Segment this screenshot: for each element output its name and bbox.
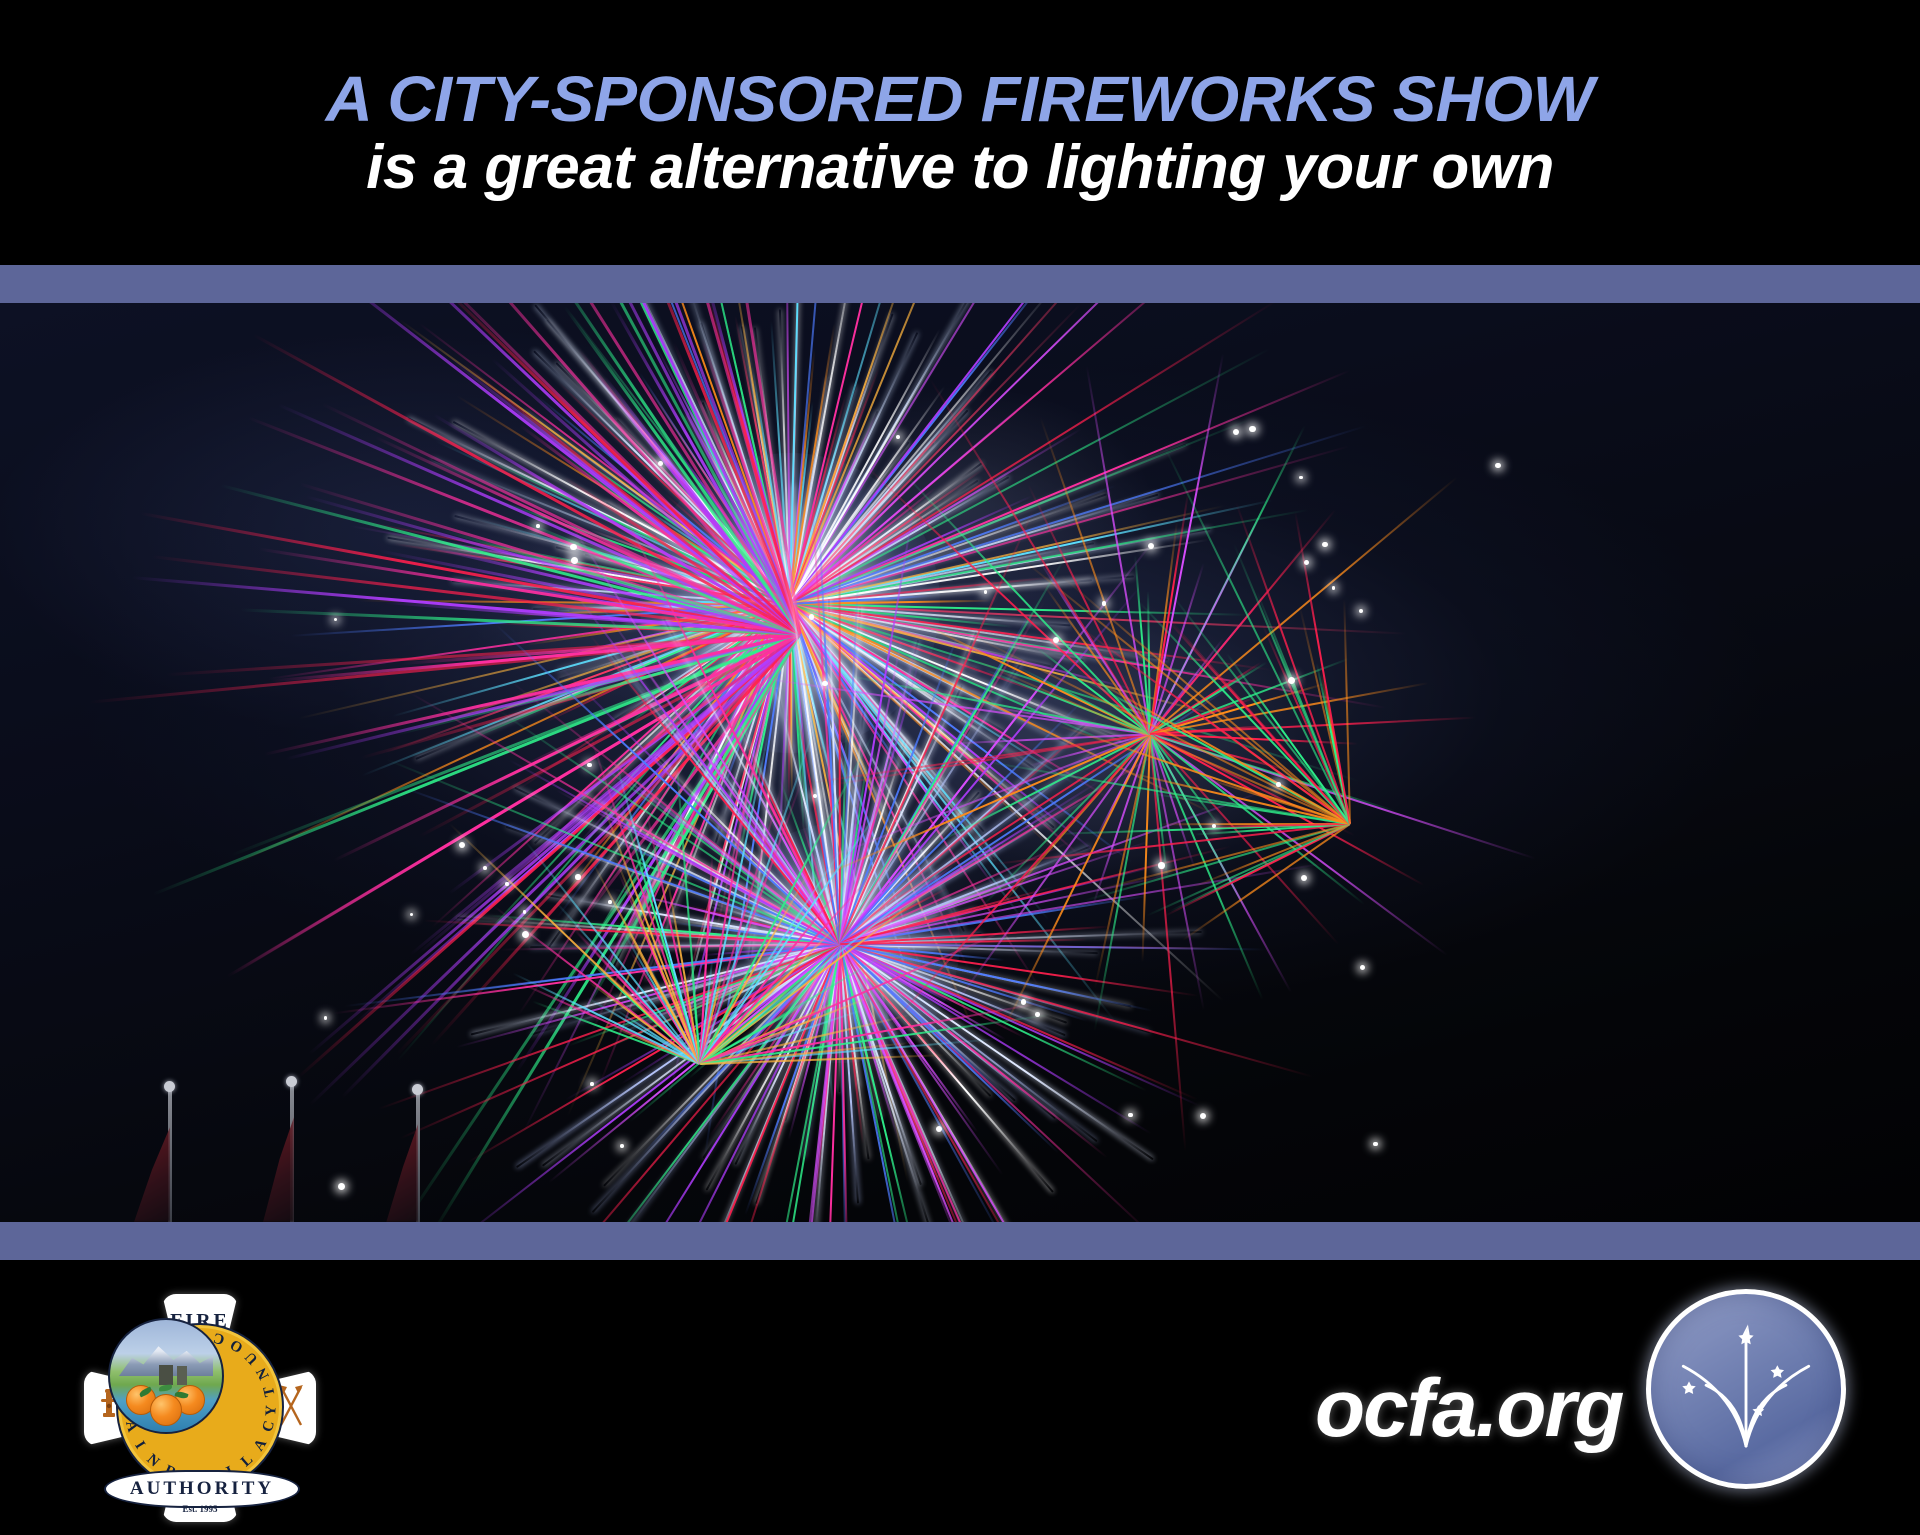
firework-spark	[1148, 543, 1154, 549]
firework-spark	[984, 590, 987, 593]
accent-bar-top	[0, 265, 1920, 303]
firework-spark	[587, 763, 592, 768]
firework-spark	[809, 614, 814, 619]
firework-spark	[334, 618, 337, 621]
firework-spark	[1332, 586, 1335, 589]
firework-spark	[459, 842, 465, 848]
firework-spark	[658, 461, 663, 466]
firework-spark	[575, 874, 580, 879]
seal-center-scene	[108, 1318, 224, 1434]
firework-spark	[1200, 1113, 1206, 1119]
seal-authority-banner: AUTHORITY	[104, 1470, 300, 1508]
firework-burst-icon	[1651, 1294, 1841, 1484]
silo-graphic	[177, 1366, 187, 1385]
firework-spark	[1233, 429, 1240, 436]
website-url[interactable]: ocfa.org	[1315, 1368, 1622, 1450]
firework-spark	[522, 931, 529, 938]
headline-primary: A CITY-SPONSORED FIREWORKS SHOW	[326, 67, 1594, 131]
firework-spark	[590, 1082, 594, 1086]
firework-spark	[1158, 862, 1164, 868]
firework-spark	[536, 524, 540, 528]
flagpole-3	[398, 1090, 438, 1222]
flagpole-2	[272, 1082, 312, 1222]
firework-spark	[410, 913, 413, 916]
firework-spark	[338, 1183, 345, 1190]
firework-spark	[1035, 1012, 1040, 1017]
seal-established-text: Est. 1995	[82, 1504, 318, 1514]
firework-spark	[1360, 965, 1365, 970]
firework-spark	[1053, 637, 1059, 643]
firework-spark	[1299, 476, 1302, 479]
leaf-center	[159, 1385, 172, 1392]
firework-spark	[1359, 609, 1363, 613]
firework-spark	[324, 1016, 328, 1020]
firework-spark	[1322, 542, 1327, 547]
firework-spark	[505, 882, 508, 885]
firework-spark	[813, 794, 817, 798]
flagpole-1	[150, 1087, 190, 1222]
firework-spark	[896, 435, 900, 439]
firework-spark	[483, 866, 487, 870]
firework-spark	[620, 1144, 624, 1148]
accent-bar-bottom	[0, 1222, 1920, 1260]
fireworks-seal-badge	[1646, 1289, 1846, 1489]
firework-spark	[1021, 999, 1027, 1005]
barn-graphic	[159, 1365, 172, 1385]
poster-root: A CITY-SPONSORED FIREWORKS SHOW is a gre…	[0, 0, 1920, 1535]
headline-secondary: is a great alternative to lighting your …	[366, 137, 1554, 199]
seal-banner-text: AUTHORITY	[130, 1478, 274, 1500]
fireworks-photo	[0, 303, 1920, 1222]
ocfa-seal-logo: FIRE ORANGE COUNTY CALIFORNIA	[82, 1292, 318, 1524]
firework-spark	[1373, 1142, 1378, 1147]
firework-spark	[1102, 601, 1107, 606]
firework-spark	[1249, 426, 1255, 432]
firework-spark	[1304, 560, 1309, 565]
orange-fruit-center	[150, 1394, 182, 1426]
firework-spark	[1495, 463, 1501, 469]
firework-spark	[1276, 782, 1281, 787]
firework-spark	[608, 900, 612, 904]
firework-spark	[1301, 875, 1307, 881]
firework-spark	[1288, 677, 1295, 684]
firework-spark	[570, 544, 576, 550]
header-banner: A CITY-SPONSORED FIREWORKS SHOW is a gre…	[0, 0, 1920, 265]
firework-spark	[571, 557, 578, 564]
firework-spark	[1128, 1113, 1132, 1117]
